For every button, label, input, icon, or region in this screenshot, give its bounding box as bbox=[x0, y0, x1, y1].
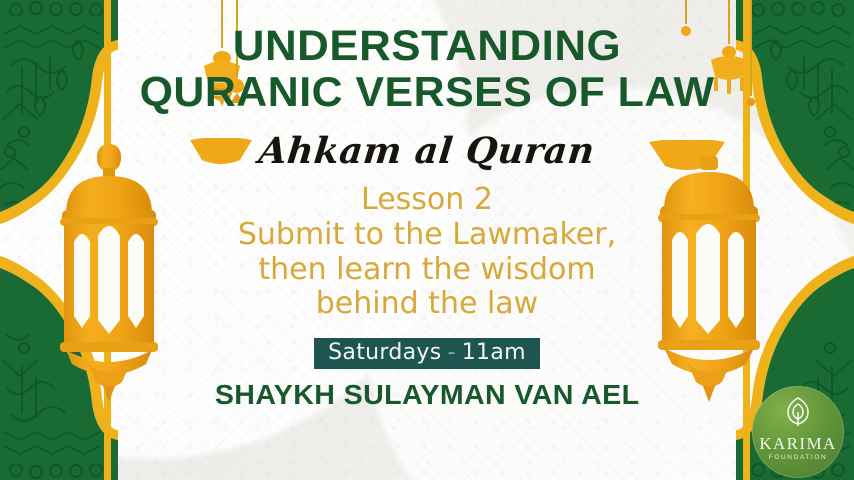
lesson-description: Lesson 2 Submit to the Lawmaker, then le… bbox=[238, 183, 616, 322]
logo-subtitle: FOUNDATION bbox=[769, 455, 828, 462]
karima-foundation-logo: KARIMA FOUNDATION bbox=[752, 386, 844, 478]
title-line-1: UNDERSTANDING bbox=[0, 24, 854, 70]
speaker-name: SHAYKH SULAYMAN VAN AEL bbox=[215, 379, 640, 411]
schedule-day: Saturdays bbox=[328, 340, 441, 365]
logo-name: KARIMA bbox=[759, 435, 836, 452]
lesson-line-4: behind the law bbox=[238, 287, 616, 322]
schedule-time: 11am bbox=[462, 340, 526, 365]
poster-canvas: UNDERSTANDING QURANIC VERSES OF LAW Ahka… bbox=[0, 0, 854, 480]
lesson-line-1: Lesson 2 bbox=[238, 183, 616, 218]
lesson-line-2: Submit to the Lawmaker, bbox=[238, 218, 616, 253]
lesson-line-3: then learn the wisdom bbox=[238, 253, 616, 288]
leaf-emblem-icon bbox=[781, 395, 815, 434]
poster-content: UNDERSTANDING QURANIC VERSES OF LAW Ahka… bbox=[0, 0, 854, 480]
poster-title-block: UNDERSTANDING QURANIC VERSES OF LAW bbox=[0, 24, 854, 114]
schedule-badge: Saturdays-11am bbox=[314, 338, 540, 369]
script-subtitle: Ahkam al Quran bbox=[257, 130, 597, 172]
title-line-2: QURANIC VERSES OF LAW bbox=[0, 70, 854, 115]
schedule-separator: - bbox=[441, 340, 461, 365]
